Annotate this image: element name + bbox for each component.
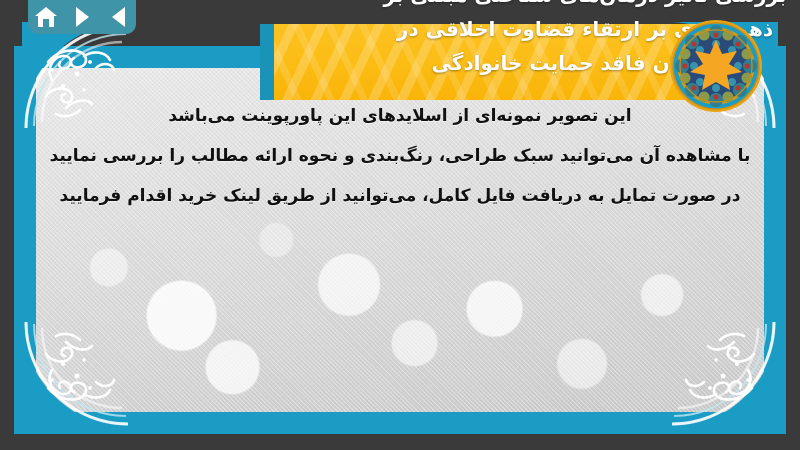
body-line-1: این تصویر نمونه‌ای از اسلایدهای این پاور…: [46, 96, 754, 136]
forward-arrow-icon: [76, 7, 89, 27]
title-banner: [260, 24, 730, 100]
slide-screenshot: بررسی تأثیر درمان‌های شناختی مبتنی بر ذه…: [0, 0, 800, 450]
back-button[interactable]: [105, 5, 131, 29]
slide-body-text: این تصویر نمونه‌ای از اسلایدهای این پاور…: [46, 96, 754, 216]
navigation-toolbar[interactable]: [28, 0, 136, 34]
body-line-3: در صورت تمایل به دریافت فایل کامل، می‌تو…: [46, 176, 754, 216]
back-arrow-icon: [112, 7, 125, 27]
title-line-1: بررسی تأثیر درمان‌های شناختی مبتنی بر: [370, 0, 800, 12]
home-button[interactable]: [33, 5, 59, 29]
home-icon: [34, 6, 58, 28]
body-line-2: با مشاهده آن می‌توانید سبک طراحی، رنگ‌بن…: [46, 136, 754, 176]
islamic-mandala-medallion: [668, 18, 764, 114]
forward-button[interactable]: [69, 5, 95, 29]
